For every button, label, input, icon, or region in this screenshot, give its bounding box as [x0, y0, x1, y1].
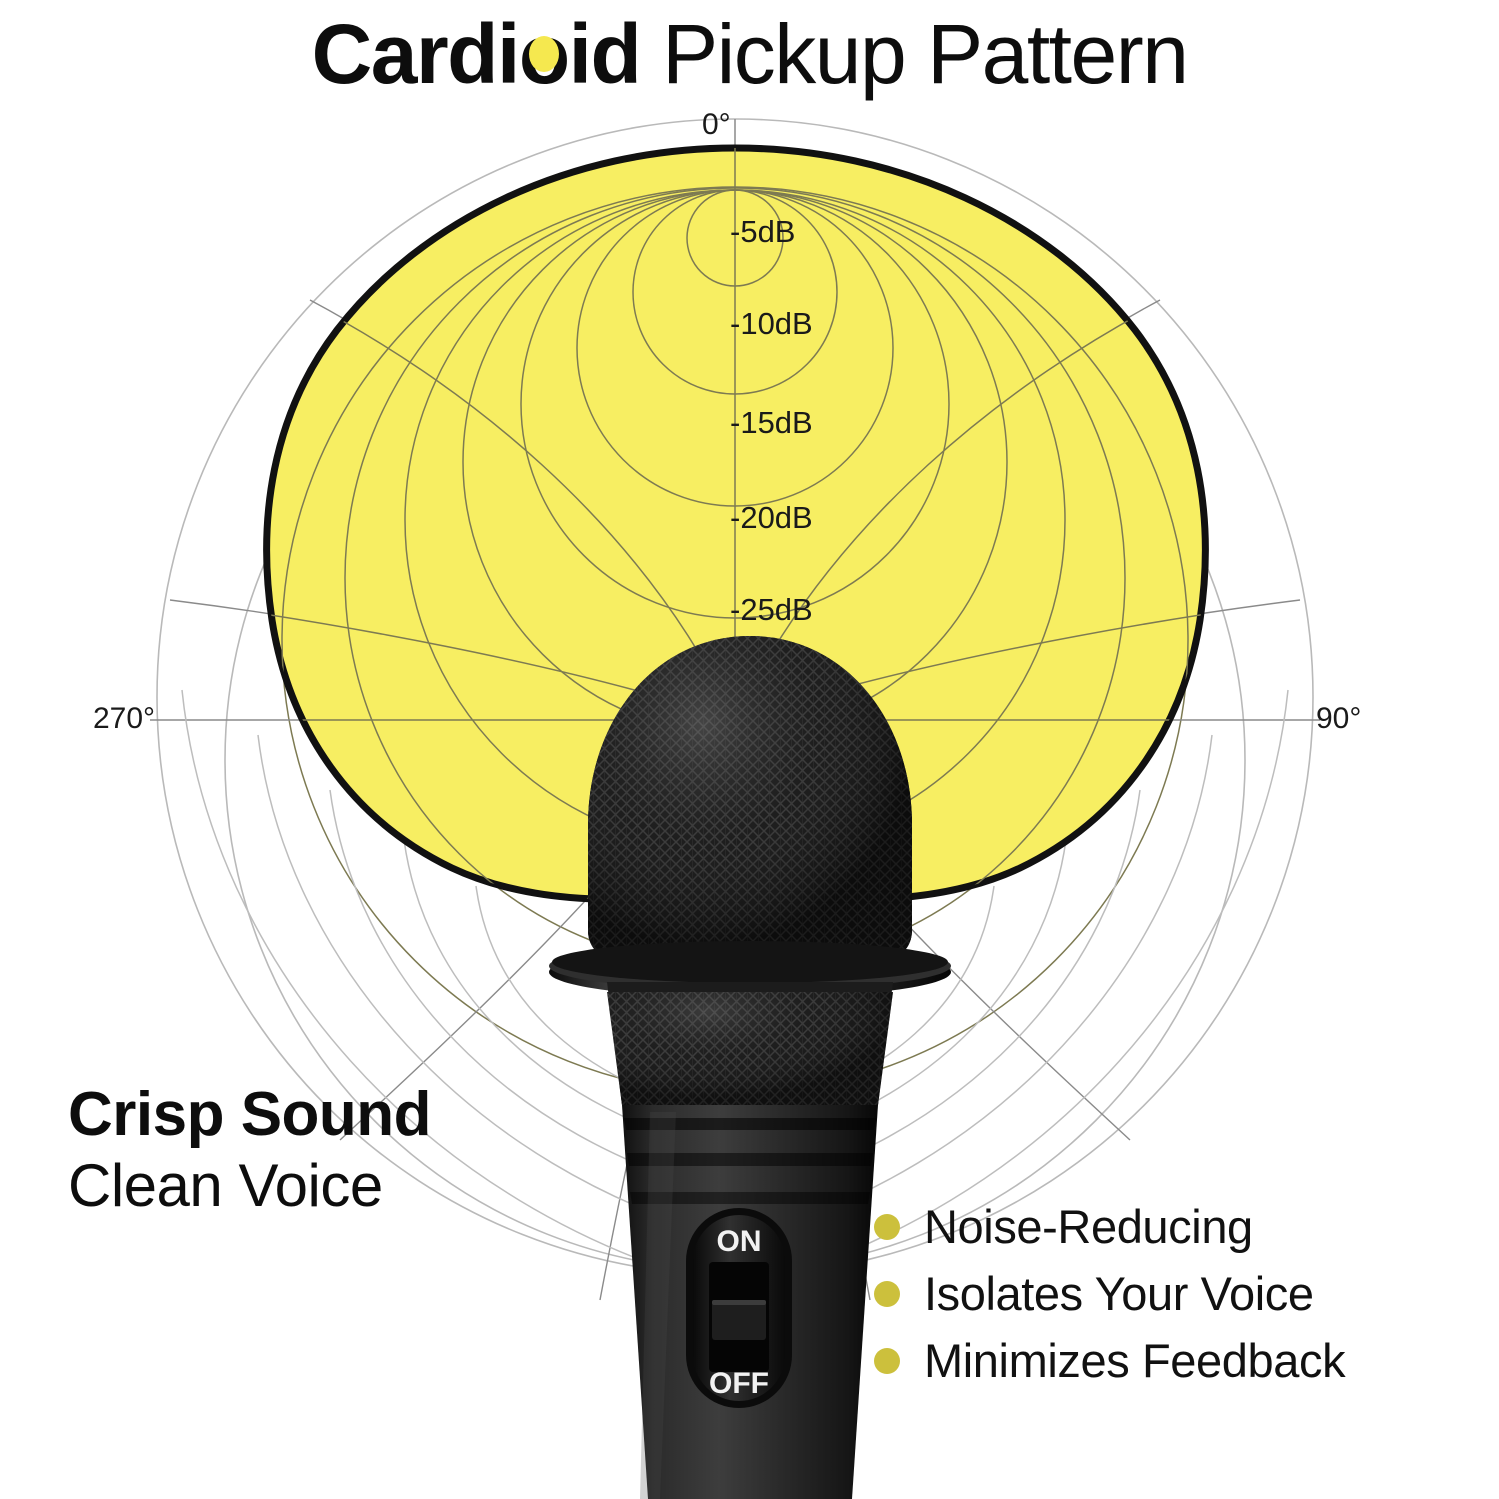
bullet-dot-icon	[874, 1348, 900, 1374]
list-item: Isolates Your Voice	[874, 1263, 1474, 1325]
headline-line-2: Clean Voice	[68, 1150, 588, 1222]
radial-label-10db: -10dB	[730, 306, 813, 342]
feature-list: Noise-Reducing Isolates Your Voice Minim…	[874, 1196, 1474, 1397]
angle-label-0: 0°	[702, 108, 731, 142]
angle-label-90: 90°	[1316, 702, 1361, 736]
angle-label-270: 270°	[93, 702, 155, 736]
headline-block: Crisp Sound Clean Voice	[68, 1080, 588, 1222]
microphone-grille	[580, 630, 920, 990]
feature-label: Noise-Reducing	[924, 1200, 1253, 1254]
feature-label: Minimizes Feedback	[924, 1334, 1345, 1388]
feature-label: Isolates Your Voice	[924, 1267, 1314, 1321]
radial-label-15db: -15dB	[730, 405, 813, 441]
headline-line-1: Crisp Sound	[68, 1080, 588, 1150]
microphone-neck-grille	[600, 975, 900, 1115]
bullet-dot-icon	[874, 1214, 900, 1240]
switch-on-label: ON	[717, 1225, 762, 1258]
list-item: Noise-Reducing	[874, 1196, 1474, 1258]
radial-label-20db: -20dB	[730, 500, 813, 536]
switch-off-label: OFF	[709, 1367, 769, 1400]
bullet-dot-icon	[874, 1281, 900, 1307]
list-item: Minimizes Feedback	[874, 1330, 1474, 1392]
radial-label-5db: -5dB	[730, 214, 795, 250]
microphone-power-switch[interactable]: ON OFF	[686, 1208, 792, 1408]
infographic-canvas: Cardioid Pickup Pattern	[0, 0, 1499, 1499]
